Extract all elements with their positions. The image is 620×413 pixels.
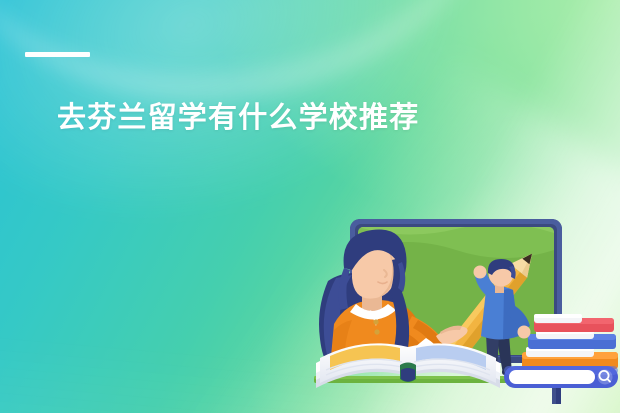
search-bar[interactable] bbox=[504, 366, 618, 388]
education-study-illustration bbox=[300, 206, 620, 413]
search-icon[interactable] bbox=[598, 370, 613, 385]
accent-rule bbox=[25, 52, 90, 57]
banner: 去芬兰留学有什么学校推荐 bbox=[0, 0, 620, 413]
stacked-books bbox=[522, 314, 618, 369]
page-title: 去芬兰留学有什么学校推荐 bbox=[57, 100, 557, 136]
